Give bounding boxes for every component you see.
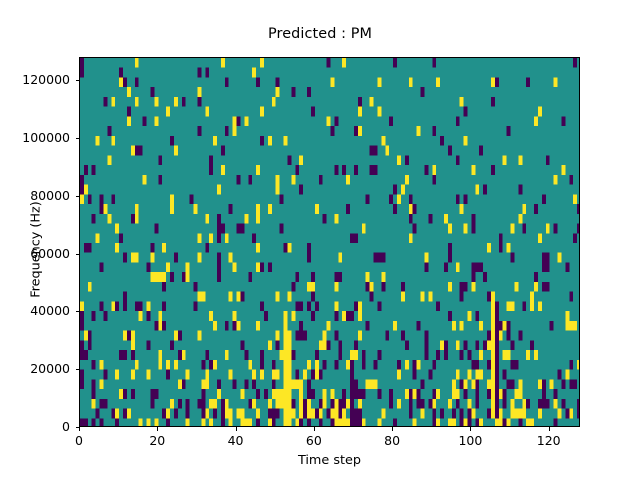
page-title: Predicted : PM [0, 26, 640, 42]
x-tick-mark [549, 427, 550, 431]
x-tick-label: 80 [384, 433, 400, 448]
x-tick-label: 20 [149, 433, 165, 448]
y-tick-mark [76, 369, 80, 370]
x-tick-mark [314, 427, 315, 431]
y-axis-label: Frequency (Hz) [29, 130, 44, 370]
x-tick-label: 100 [458, 433, 482, 448]
x-tick-mark [79, 427, 80, 431]
y-tick-mark [76, 311, 80, 312]
y-tick-mark [76, 254, 80, 255]
y-tick-label: 0 [0, 419, 70, 434]
heatmap-plot-area [79, 57, 580, 427]
y-tick-label: 120000 [0, 72, 70, 87]
x-tick-label: 40 [228, 433, 244, 448]
x-tick-mark [392, 427, 393, 431]
x-tick-label: 60 [306, 433, 322, 448]
x-tick-label: 120 [537, 433, 561, 448]
x-tick-mark [236, 427, 237, 431]
figure-canvas: Predicted : PM 020406080100120 020000400… [0, 0, 640, 480]
y-tick-mark [76, 196, 80, 197]
y-tick-mark [76, 138, 80, 139]
y-tick-mark [76, 427, 80, 428]
x-tick-label: 0 [75, 433, 83, 448]
x-tick-mark [157, 427, 158, 431]
heatmap-image [80, 58, 580, 427]
x-axis-label: Time step [79, 453, 580, 468]
x-tick-mark [470, 427, 471, 431]
y-tick-mark [76, 80, 80, 81]
